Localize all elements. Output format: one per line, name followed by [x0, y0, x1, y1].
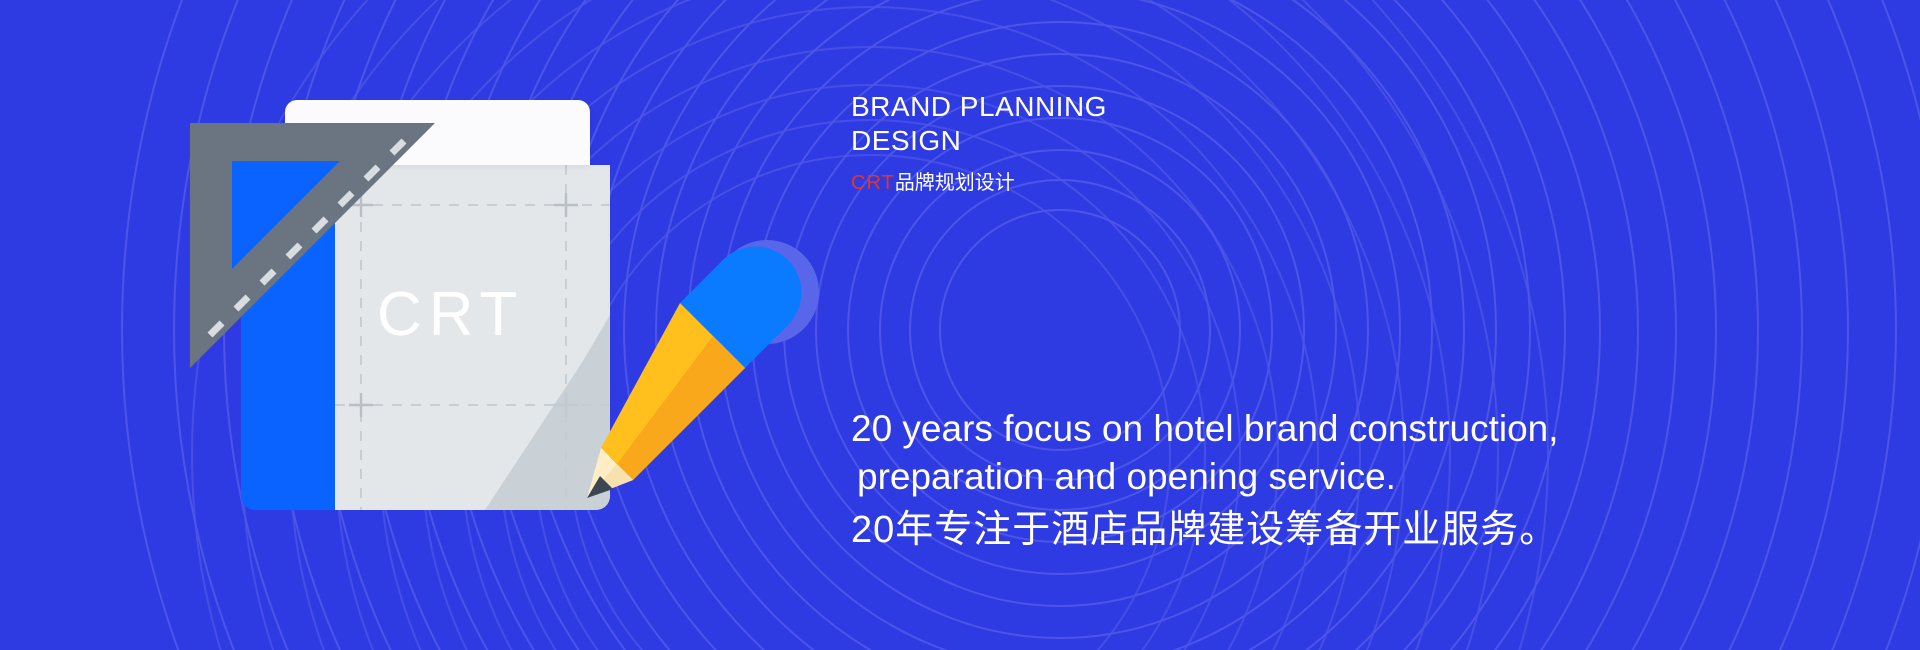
hero-banner: CRT	[0, 0, 1920, 650]
eyebrow-subtitle: CRT品牌规划设计	[851, 170, 1015, 196]
lead-line-2: preparation and opening service.	[851, 453, 1671, 501]
set-square-ruler-icon	[190, 123, 435, 368]
lead-paragraph-en: 20 years focus on hotel brand constructi…	[851, 405, 1671, 501]
lead-paragraph-cn: 20年专注于酒店品牌建设筹备开业服务。	[851, 505, 1671, 555]
pencil-icon	[575, 220, 835, 510]
pencil-svg	[575, 220, 835, 510]
lead-line-1: 20 years focus on hotel brand constructi…	[851, 405, 1671, 453]
hero-copy: BRAND PLANNING DESIGN CRT品牌规划设计 20 years…	[851, 0, 1911, 650]
eyebrow-line-1: BRAND PLANNING	[851, 90, 1281, 124]
eyebrow-brand-text: CRT	[851, 172, 895, 194]
ruler-svg	[190, 123, 435, 368]
eyebrow-cn-text: 品牌规划设计	[895, 172, 1015, 194]
eyebrow-heading: BRAND PLANNING DESIGN	[851, 90, 1281, 158]
brand-design-illustration: CRT	[225, 55, 845, 575]
eyebrow-line-2: DESIGN	[851, 124, 1281, 158]
